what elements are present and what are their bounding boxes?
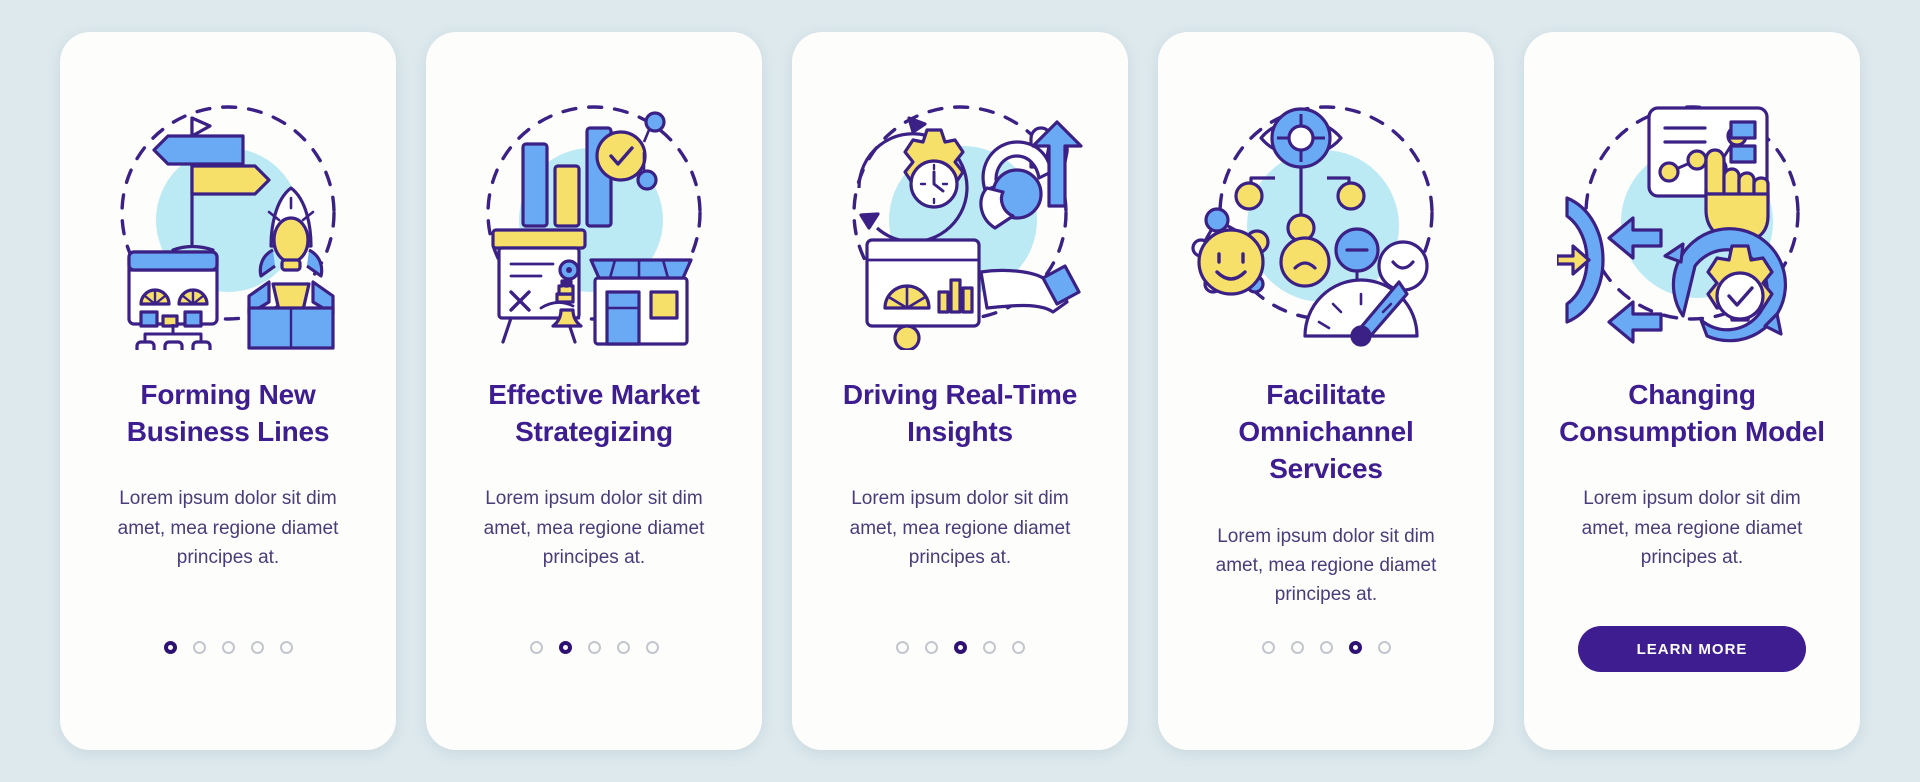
- learn-more-button[interactable]: LEARN MORE: [1578, 626, 1806, 672]
- pagination-dot-5[interactable]: [280, 641, 293, 654]
- pagination-dot-1[interactable]: [896, 641, 909, 654]
- card-title: Changing Consumption Model: [1559, 376, 1825, 450]
- onboarding-screen-effective-market-strategizing: Effective Market Strategizing Lorem ipsu…: [426, 32, 762, 750]
- pagination-dot-1[interactable]: [164, 641, 177, 654]
- pagination-dot-5[interactable]: [646, 641, 659, 654]
- card-title: Effective Market Strategizing: [488, 376, 700, 450]
- onboarding-screen-changing-consumption-model: Changing Consumption Model Lorem ipsum d…: [1524, 32, 1860, 750]
- pagination-dot-1[interactable]: [530, 641, 543, 654]
- pagination-dot-4[interactable]: [1349, 641, 1362, 654]
- pagination-dot-2[interactable]: [1291, 641, 1304, 654]
- pagination-dot-2[interactable]: [925, 641, 938, 654]
- card-title: Facilitate Omnichannel Services: [1180, 376, 1472, 488]
- pagination-dots[interactable]: [1158, 641, 1494, 654]
- pagination-dot-3[interactable]: [588, 641, 601, 654]
- bar-chart-easel-storefront-illustration: [459, 80, 729, 350]
- pagination-dot-2[interactable]: [559, 641, 572, 654]
- pagination-dot-4[interactable]: [617, 641, 630, 654]
- pagination-dots[interactable]: [792, 641, 1128, 654]
- pagination-dot-5[interactable]: [1378, 641, 1391, 654]
- card-title: Forming New Business Lines: [127, 376, 330, 450]
- onboarding-screens-row: Forming New Business Lines Lorem ipsum d…: [60, 32, 1860, 750]
- pagination-dot-4[interactable]: [983, 641, 996, 654]
- pagination-dot-1[interactable]: [1262, 641, 1275, 654]
- pagination-dot-5[interactable]: [1012, 641, 1025, 654]
- gear-clock-ok-hand-arrow-dashboard-illustration: [825, 80, 1095, 350]
- pagination-dot-3[interactable]: [1320, 641, 1333, 654]
- dashboard-hand-arrows-gear-cycle-illustration: [1557, 80, 1827, 350]
- onboarding-screen-facilitate-omnichannel-services: Facilitate Omnichannel Services Lorem ip…: [1158, 32, 1494, 750]
- pagination-dots[interactable]: [426, 641, 762, 654]
- pagination-dot-3[interactable]: [954, 641, 967, 654]
- card-body-text: Lorem ipsum dolor sit dim amet, mea regi…: [484, 484, 705, 572]
- onboarding-screen-forming-new-business-lines: Forming New Business Lines Lorem ipsum d…: [60, 32, 396, 750]
- card-body-text: Lorem ipsum dolor sit dim amet, mea regi…: [1216, 522, 1437, 610]
- card-body-text: Lorem ipsum dolor sit dim amet, mea regi…: [1582, 484, 1803, 572]
- card-body-text: Lorem ipsum dolor sit dim amet, mea regi…: [850, 484, 1071, 572]
- signpost-rocket-box-illustration: [93, 80, 363, 350]
- onboarding-screen-driving-real-time-insights: Driving Real-Time Insights Lorem ipsum d…: [792, 32, 1128, 750]
- eye-network-emoji-gauge-illustration: [1191, 80, 1461, 350]
- pagination-dot-4[interactable]: [251, 641, 264, 654]
- pagination-dots[interactable]: [60, 641, 396, 654]
- pagination-dot-3[interactable]: [222, 641, 235, 654]
- pagination-dot-2[interactable]: [193, 641, 206, 654]
- card-title: Driving Real-Time Insights: [843, 376, 1077, 450]
- card-body-text: Lorem ipsum dolor sit dim amet, mea regi…: [118, 484, 339, 572]
